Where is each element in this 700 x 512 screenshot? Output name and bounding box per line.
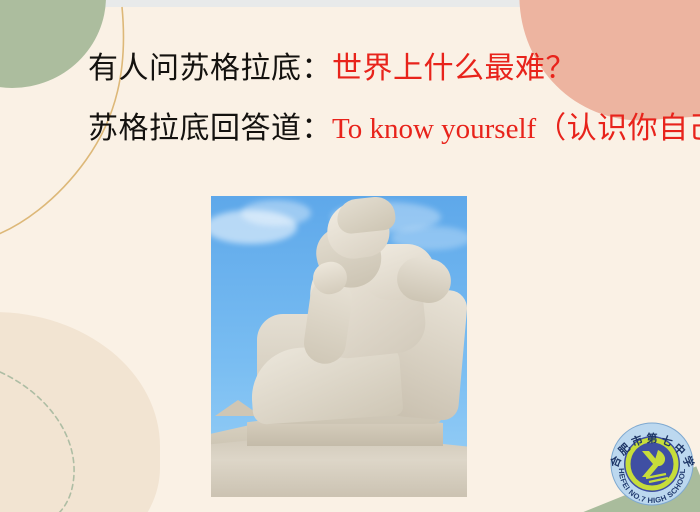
presentation-slide: 有人问苏格拉底：世界上什么最难？ 苏格拉底回答道：To know yoursel… <box>0 0 700 512</box>
question-prefix-text: 有人问苏格拉底： <box>88 52 332 85</box>
school-logo: 合 肥 市 第 七 中 学 HEFEI NO.7 HIGH SCHOOL <box>608 420 696 508</box>
answer-prefix-text: 苏格拉底回答道： <box>88 112 332 145</box>
top-edge-strip <box>0 0 700 7</box>
slide-text-block: 有人问苏格拉底：世界上什么最难？ 苏格拉底回答道：To know yoursel… <box>0 54 700 144</box>
question-highlight-text: 世界上什么最难？ <box>332 52 576 85</box>
answer-translation-text: （认识你自己） <box>536 112 700 145</box>
quote-line-question: 有人问苏格拉底：世界上什么最难？ <box>0 54 700 84</box>
answer-english-text: To know yourself <box>332 113 536 145</box>
photo-cloud <box>241 200 311 226</box>
socrates-statue-photo <box>211 196 467 497</box>
quote-line-answer: 苏格拉底回答道：To know yourself（认识你自己） <box>0 114 700 144</box>
decor-tan-blob-bottom-left <box>0 312 160 512</box>
